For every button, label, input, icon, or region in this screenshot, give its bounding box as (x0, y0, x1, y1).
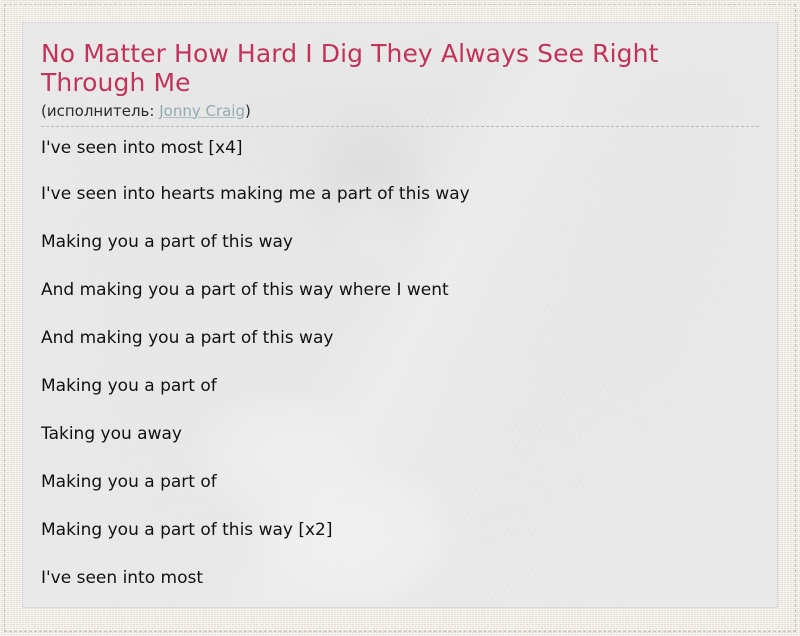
lyric-line: And making you a part of this way (41, 315, 759, 363)
artist-prefix-label: (исполнитель: (41, 102, 154, 120)
lyric-line: Making you a part of (41, 459, 759, 507)
card-content: No Matter How Hard I Dig They Always See… (23, 23, 777, 603)
artist-link[interactable]: Jonny Craig (159, 102, 245, 120)
lyric-line: And making you a part of this way where … (41, 267, 759, 315)
artist-byline: (исполнитель: Jonny Craig) (41, 102, 759, 127)
page-title: No Matter How Hard I Dig They Always See… (41, 39, 759, 98)
lyric-line: Making you a part of this way [x2] (41, 507, 759, 555)
lyric-line: I've seen into most [x4] (41, 127, 759, 171)
lyric-line: Making you a part of this way (41, 219, 759, 267)
lyrics-text: I've seen into most [x4] I've seen into … (41, 127, 759, 603)
lyric-line: Making you a part of (41, 363, 759, 411)
artist-suffix-label: ) (245, 102, 251, 120)
lyric-line: Taking you away (41, 411, 759, 459)
lyric-line: I've seen into most (41, 555, 759, 603)
lyrics-card: No Matter How Hard I Dig They Always See… (22, 22, 778, 608)
lyric-line: I've seen into hearts making me a part o… (41, 171, 759, 219)
